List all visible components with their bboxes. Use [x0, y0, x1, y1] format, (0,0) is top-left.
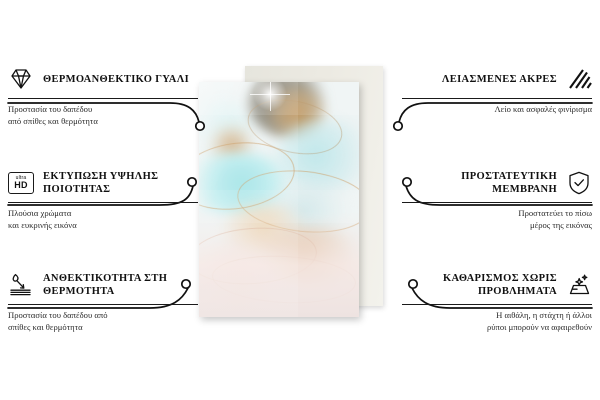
feature-title: ΑΝΘΕΚΤΙΚΟΤΗΤΑ ΣΤΗ ΘΕΡΜΟΤΗΤΑ: [43, 272, 198, 298]
feature-high-quality-print: ultra HD ΕΚΤΥΠΩΣΗ ΥΨΗΛΗΣ ΠΟΙΟΤΗΤΑΣ Πλούσ…: [8, 168, 198, 231]
polished-edges-icon: [566, 66, 592, 92]
glass-glare-icon: [253, 82, 287, 111]
feature-heading: ΘΕΡΜΟΑΝΘΕΚΤΙΚΟ ΓΥΑΛΙ: [8, 64, 198, 94]
feature-description: Προστασία του δαπέδου από σπίθες και θερ…: [8, 104, 198, 127]
feature-description: Προστασία του δαπέδου από σπίθες και θερ…: [8, 310, 198, 333]
divider: [8, 98, 198, 99]
flame-heat-resistance-icon: [8, 272, 34, 298]
product-illustration: [185, 62, 415, 352]
badge-hd-label: HD: [14, 181, 28, 191]
shield-check-icon: [566, 170, 592, 196]
feature-heat-durability: ΑΝΘΕΚΤΙΚΟΤΗΤΑ ΣΤΗ ΘΕΡΜΟΤΗΤΑ Προστασία το…: [8, 270, 198, 333]
feature-description: Λείο και ασφαλές φινίρισμα: [402, 104, 592, 116]
feature-title: ΠΡΟΣΤΑΤΕΥΤΙΚΗ ΜΕΜΒΡΑΝΗ: [402, 170, 557, 196]
feature-description: Η αιθάλη, η στάχτη ή άλλοι ρύποι μπορούν…: [402, 310, 592, 333]
ultra-hd-badge-icon: ultra HD: [8, 172, 34, 194]
infographic-canvas: ΘΕΡΜΟΑΝΘΕΚΤΙΚΟ ΓΥΑΛΙ Προστασία του δαπέδ…: [0, 0, 600, 400]
diamond-icon: [8, 66, 34, 92]
divider: [8, 304, 198, 305]
feature-protective-membrane: ΠΡΟΣΤΑΤΕΥΤΙΚΗ ΜΕΜΒΡΑΝΗ Προστατεύει το πί…: [402, 168, 592, 231]
feature-heading: ΑΝΘΕΚΤΙΚΟΤΗΤΑ ΣΤΗ ΘΕΡΜΟΤΗΤΑ: [8, 270, 198, 300]
feature-title: ΘΕΡΜΟΑΝΘΕΚΤΙΚΟ ΓΥΑΛΙ: [43, 73, 198, 86]
feature-heading: ΚΑΘΑΡΙΣΜΟΣ ΧΩΡΙΣ ΠΡΟΒΛΗΜΑΤΑ: [402, 270, 592, 300]
feature-easy-cleaning: ΚΑΘΑΡΙΣΜΟΣ ΧΩΡΙΣ ΠΡΟΒΛΗΜΑΤΑ Η αιθάλη, η …: [402, 270, 592, 333]
divider: [402, 98, 592, 99]
divider: [402, 304, 592, 305]
feature-description: Προστατεύει το πίσω μέρος της εικόνας: [402, 208, 592, 231]
feature-title: ΕΚΤΥΠΩΣΗ ΥΨΗΛΗΣ ΠΟΙΟΤΗΤΑΣ: [43, 170, 198, 196]
glass-panel: [199, 82, 359, 317]
feature-heading: ultra HD ΕΚΤΥΠΩΣΗ ΥΨΗΛΗΣ ΠΟΙΟΤΗΤΑΣ: [8, 168, 198, 198]
feature-title: ΛΕΙΑΣΜΕΝΕΣ ΑΚΡΕΣ: [402, 73, 557, 86]
feature-title: ΚΑΘΑΡΙΣΜΟΣ ΧΩΡΙΣ ΠΡΟΒΛΗΜΑΤΑ: [402, 272, 557, 298]
divider: [8, 202, 198, 203]
feature-heat-resistant-glass: ΘΕΡΜΟΑΝΘΕΚΤΙΚΟ ΓΥΑΛΙ Προστασία του δαπέδ…: [8, 64, 198, 127]
divider: [402, 202, 592, 203]
feature-description: Πλούσια χρώματα και ευκρινής εικόνα: [8, 208, 198, 231]
feature-polished-edges: ΛΕΙΑΣΜΕΝΕΣ ΑΚΡΕΣ Λείο και ασφαλές φινίρι…: [402, 64, 592, 116]
easy-clean-sponge-icon: [566, 272, 592, 298]
feature-heading: ΠΡΟΣΤΑΤΕΥΤΙΚΗ ΜΕΜΒΡΑΝΗ: [402, 168, 592, 198]
glass-reflection: [199, 82, 359, 317]
feature-heading: ΛΕΙΑΣΜΕΝΕΣ ΑΚΡΕΣ: [402, 64, 592, 94]
